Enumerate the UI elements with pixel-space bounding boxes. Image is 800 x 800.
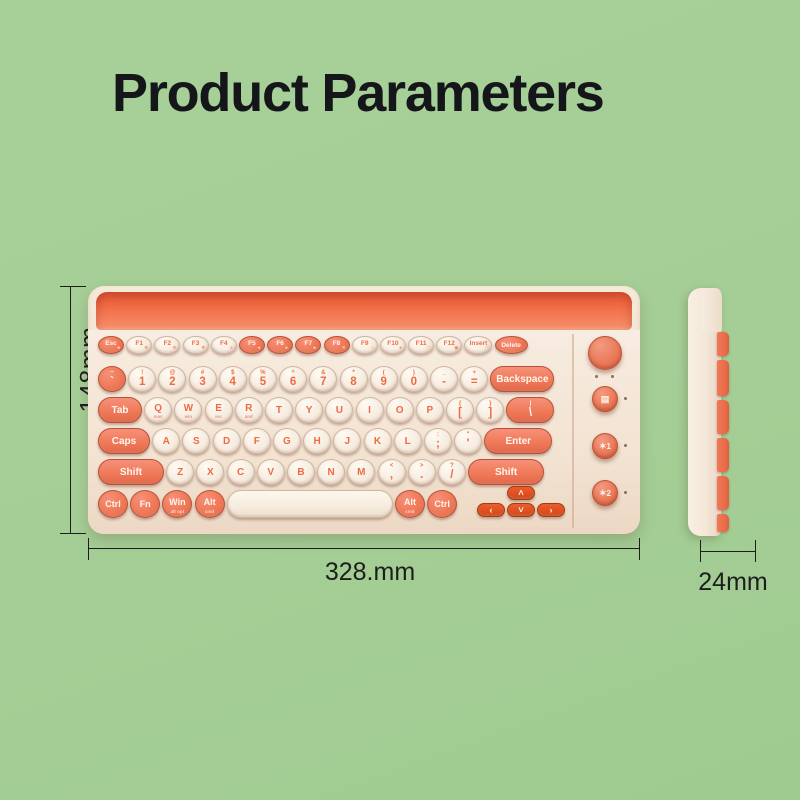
knob-column-divider (572, 334, 574, 528)
function-key-row: Esc■F1☀F2☀F3⌗F4⌕F5◄F6►F7►F8✕F9○F10●F11□F… (98, 336, 530, 354)
key-label: Insert (470, 340, 488, 347)
key-key-8[interactable]: <, (378, 459, 406, 485)
key-r-4[interactable]: Rand (235, 397, 263, 423)
key-sublegend: □ (486, 346, 489, 351)
key-label: F1 (135, 340, 143, 347)
side-key-edge (717, 360, 729, 396)
key-bottom-legend: . (420, 470, 423, 482)
key-d-3[interactable]: D (213, 428, 241, 454)
key-b-5[interactable]: B (287, 459, 315, 485)
key-f1-1[interactable]: F1☀ (126, 336, 152, 354)
key-sublegend: ⌗ (202, 346, 205, 351)
key-arrow-left[interactable]: ‹ (477, 503, 505, 517)
key-bottom-legend: 8 (350, 377, 356, 389)
key-key-11[interactable]: {[ (446, 397, 474, 423)
key-label: Delete (501, 342, 521, 349)
key-label: F9 (361, 340, 369, 347)
side-key-edge (717, 332, 729, 356)
width-tick-right (639, 538, 640, 560)
side-key-edge (717, 476, 729, 510)
key-label: F7 (305, 340, 313, 347)
control-knob-column: ▤ ✶1 ✶2 (580, 334, 638, 530)
key-sublegend: ✕ (342, 346, 346, 351)
key-arrow-right[interactable]: › (537, 503, 565, 517)
arrow-left-icon: ‹ (490, 505, 493, 515)
key-sublegend: □ (427, 346, 430, 351)
key-ctrl-0[interactable]: Ctrl (98, 490, 128, 518)
bottom-key-row: CtrlFnWinalt optAltcmdAltcmdCtrl (98, 490, 459, 518)
key-bottom-legend: 3 (199, 377, 205, 389)
key-arrow-up[interactable]: ˄ (507, 486, 535, 500)
bluetooth-1-led (624, 444, 627, 447)
key-sublegend: cmd (405, 510, 414, 515)
key-label: L (405, 436, 411, 447)
key-esc-0[interactable]: Esc■ (98, 336, 124, 354)
key-win-2[interactable]: Winalt opt (162, 490, 192, 518)
key-bottom-legend: ] (488, 408, 492, 420)
key-sublegend: ☀ (144, 346, 148, 351)
key-key-11[interactable]: "' (454, 428, 482, 454)
key-4-4[interactable]: $4 (219, 366, 247, 392)
key-label: Caps (112, 436, 136, 447)
key-0-10[interactable]: )0 (400, 366, 428, 392)
height-tick-top (60, 286, 86, 287)
volume-knob[interactable] (588, 336, 622, 370)
bluetooth-1-button[interactable]: ✶1 (592, 433, 618, 459)
key-label: Shift (120, 467, 142, 478)
key-f11-11[interactable]: F11□ (408, 336, 434, 354)
key-w-2[interactable]: Wwin (174, 397, 202, 423)
key-label: A (163, 436, 170, 447)
key-arrow-down[interactable]: ˅ (507, 503, 535, 517)
key-label: F11 (416, 340, 427, 347)
key-label: Ctrl (105, 499, 121, 509)
key-bottom-legend: = (471, 377, 478, 389)
key-f10-10[interactable]: F10● (380, 336, 406, 354)
key-label: Shift (495, 467, 517, 478)
key-alt-5[interactable]: Altcmd (395, 490, 425, 518)
device-button-led (624, 397, 627, 400)
led-indicator-1 (595, 375, 598, 378)
key-key-13[interactable]: |\ (506, 397, 554, 423)
key-sublegend: ⌕ (230, 346, 233, 351)
key-sublegend: cmd (205, 510, 214, 515)
key-label: K (374, 436, 381, 447)
key-label: S (193, 436, 200, 447)
key-label: M (357, 467, 365, 478)
key-bottom-legend: 7 (320, 377, 326, 389)
bluetooth-1-label: 1 (607, 442, 611, 451)
key-l-9[interactable]: L (394, 428, 422, 454)
key-fn-1[interactable]: Fn (130, 490, 160, 518)
key-label: Tab (111, 405, 128, 416)
key-bottom-legend: / (450, 470, 453, 482)
key-key-9[interactable]: >. (408, 459, 436, 485)
key-1-1[interactable]: !1 (128, 366, 156, 392)
device-stand-tray (96, 292, 632, 330)
arrow-right-icon: › (550, 505, 553, 515)
key-m-7[interactable]: M (347, 459, 375, 485)
key-label: F8 (333, 340, 341, 347)
key-label: F2 (164, 340, 172, 347)
key-key-12[interactable]: }] (476, 397, 504, 423)
key-label: T (276, 405, 282, 416)
key-label: H (314, 436, 321, 447)
key-i-8[interactable]: I (356, 397, 384, 423)
key-sublegend: win (185, 415, 193, 420)
height-tick-bottom (60, 533, 86, 534)
key-o-9[interactable]: O (386, 397, 414, 423)
key-y-6[interactable]: Y (295, 397, 323, 423)
key-8-8[interactable]: *8 (340, 366, 368, 392)
key-shift-0[interactable]: Shift (98, 459, 164, 485)
key-label: J (345, 436, 351, 447)
width-dimension-line (88, 548, 640, 549)
key-key-0[interactable]: ~` (98, 366, 126, 392)
key-label: V (267, 467, 274, 478)
key-f-4[interactable]: F (243, 428, 271, 454)
key-label: I (368, 405, 371, 416)
key-h-6[interactable]: H (303, 428, 331, 454)
key-v-4[interactable]: V (257, 459, 285, 485)
key-key-10[interactable]: :; (424, 428, 452, 454)
key-label: Y (306, 405, 313, 416)
key-2-2[interactable]: @2 (158, 366, 186, 392)
key-5-5[interactable]: %5 (249, 366, 277, 392)
key-f9-9[interactable]: F9○ (352, 336, 378, 354)
key-label: Backspace (496, 374, 548, 385)
width-label: 328.mm (240, 558, 500, 587)
key-label: Enter (505, 436, 531, 447)
key-f5-5[interactable]: F5◄ (239, 336, 265, 354)
key-insert-13[interactable]: Insert□ (464, 336, 492, 354)
device-icon: ▤ (601, 395, 610, 404)
bluetooth-2-label: 2 (607, 489, 611, 498)
key-x-2[interactable]: X (196, 459, 224, 485)
key-ctrl-6[interactable]: Ctrl (427, 490, 457, 518)
side-key-edge (717, 438, 729, 472)
key-f3-3[interactable]: F3⌗ (183, 336, 209, 354)
key-p-10[interactable]: P (416, 397, 444, 423)
key-6-6[interactable]: ^6 (279, 366, 307, 392)
depth-tick-left (700, 540, 701, 562)
key-t-5[interactable]: T (265, 397, 293, 423)
number-key-row: ~`!1@2#3$4%5^6&7*8(9)0_-+=Backspace (98, 366, 557, 392)
bluetooth-icon-1: ✶ (599, 442, 607, 451)
key-bottom-legend: - (442, 377, 446, 389)
device-button[interactable]: ▤ (592, 386, 618, 412)
key-bottom-legend: [ (458, 408, 462, 420)
key-a-1[interactable]: A (152, 428, 180, 454)
key-label: F10 (387, 340, 398, 347)
key-sublegend: ► (285, 346, 289, 351)
depth-tick-right (755, 540, 756, 562)
key-sublegend: ios (215, 415, 222, 420)
key-label: Z (177, 467, 183, 478)
key-bottom-legend: ; (436, 439, 440, 451)
key-label: N (328, 467, 335, 478)
key-sublegend: ◉ (454, 346, 458, 351)
key-label: R (245, 403, 252, 414)
key-label: Alt (204, 497, 216, 507)
key-label: F6 (276, 340, 284, 347)
key-key-11[interactable]: _- (430, 366, 458, 392)
key-key-10[interactable]: ?/ (438, 459, 466, 485)
width-tick-left (88, 538, 89, 560)
key-label: C (237, 467, 244, 478)
key-3-3[interactable]: #3 (189, 366, 217, 392)
arrow-down-icon: ˅ (518, 505, 523, 515)
key-bottom-legend: 0 (411, 377, 417, 389)
key-e-3[interactable]: Eios (205, 397, 233, 423)
key-bottom-legend: ` (110, 377, 114, 389)
key-label: Alt (404, 497, 416, 507)
home-key-row: CapsASDFGHJKL:;"'Enter (98, 428, 554, 454)
bluetooth-2-led (624, 491, 627, 494)
key-label: E (215, 403, 222, 414)
key-label: F3 (192, 340, 200, 347)
key-sublegend: alt opt (171, 510, 185, 515)
key-label: F4 (220, 340, 228, 347)
key-n-6[interactable]: N (317, 459, 345, 485)
key-label: W (184, 403, 193, 414)
side-key-edge (717, 514, 729, 532)
key-sublegend: mac (154, 415, 163, 420)
key-sublegend: ■ (117, 346, 120, 351)
key-bottom-legend: 4 (230, 377, 236, 389)
bluetooth-2-button[interactable]: ✶2 (592, 480, 618, 506)
side-stand-lip (702, 288, 722, 332)
key-g-5[interactable]: G (273, 428, 301, 454)
key-bottom-legend: 9 (380, 377, 386, 389)
key-label: Win (169, 497, 185, 507)
key-label: F (254, 436, 260, 447)
qwerty-key-row: TabQmacWwinEiosRandTYUIOP{[}]|\ (98, 397, 557, 423)
key-bottom-legend: 1 (139, 377, 145, 389)
key-9-9[interactable]: (9 (370, 366, 398, 392)
key-s-2[interactable]: S (182, 428, 210, 454)
key-f2-2[interactable]: F2☀ (154, 336, 180, 354)
key-c-3[interactable]: C (227, 459, 255, 485)
key-enter-12[interactable]: Enter (484, 428, 552, 454)
key-label: F12 (444, 340, 455, 347)
key-label: Fn (140, 499, 151, 509)
key-sublegend: ◄ (256, 346, 260, 351)
key-label: X (207, 467, 214, 478)
key-u-7[interactable]: U (325, 397, 353, 423)
led-indicator-2 (611, 375, 614, 378)
key-j-7[interactable]: J (333, 428, 361, 454)
key-f7-7[interactable]: F7► (295, 336, 321, 354)
depth-dimension-line (700, 551, 756, 552)
height-dimension-line (70, 286, 71, 534)
key-bottom-legend: 2 (169, 377, 175, 389)
shift-key-row: ShiftZXCVBNM<,>.?/Shift (98, 459, 546, 485)
key-bottom-legend: 5 (260, 377, 266, 389)
key-f12-12[interactable]: F12◉ (436, 336, 462, 354)
key-bottom-legend: , (390, 470, 393, 482)
key-sublegend: ► (313, 346, 317, 351)
key-label: B (297, 467, 304, 478)
key-alt-3[interactable]: Altcmd (195, 490, 225, 518)
key-backspace-13[interactable]: Backspace (490, 366, 554, 392)
key-delete-14[interactable]: Delete (495, 336, 528, 354)
key-label: Q (154, 403, 162, 414)
key-key-12[interactable]: += (460, 366, 488, 392)
arrow-up-icon: ˄ (518, 488, 523, 498)
key-label: Esc (105, 340, 117, 347)
arrow-key-cluster: ‹˄˅› (477, 486, 567, 520)
key-7-7[interactable]: &7 (309, 366, 337, 392)
key-q-1[interactable]: Qmac (144, 397, 172, 423)
key-label: P (427, 405, 434, 416)
key-label: F5 (248, 340, 256, 347)
keyboard-top-view: Esc■F1☀F2☀F3⌗F4⌕F5◄F6►F7►F8✕F9○F10●F11□F… (88, 286, 640, 534)
key-space-4[interactable] (227, 490, 393, 518)
key-k-8[interactable]: K (364, 428, 392, 454)
key-sublegend: ☀ (172, 346, 176, 351)
side-key-edge (717, 400, 729, 434)
key-f8-8[interactable]: F8✕ (324, 336, 350, 354)
key-label: U (336, 405, 343, 416)
key-sublegend: ● (399, 346, 402, 351)
key-sublegend: ○ (371, 346, 374, 351)
key-label: D (223, 436, 230, 447)
key-z-1[interactable]: Z (166, 459, 194, 485)
key-label: Ctrl (434, 499, 450, 509)
bluetooth-icon-2: ✶ (599, 489, 607, 498)
key-caps-0[interactable]: Caps (98, 428, 150, 454)
key-bottom-legend: ' (467, 439, 470, 451)
depth-label: 24mm (663, 568, 800, 597)
key-bottom-legend: \ (529, 408, 532, 420)
keyboard-side-view (688, 288, 734, 536)
page-title: Product Parameters (112, 62, 604, 124)
key-label: O (396, 405, 404, 416)
key-f4-4[interactable]: F4⌕ (211, 336, 237, 354)
key-shift-11[interactable]: Shift (468, 459, 544, 485)
key-f6-6[interactable]: F6► (267, 336, 293, 354)
key-tab-0[interactable]: Tab (98, 397, 142, 423)
key-bottom-legend: 6 (290, 377, 296, 389)
key-sublegend: and (245, 415, 253, 420)
key-label: G (283, 436, 291, 447)
